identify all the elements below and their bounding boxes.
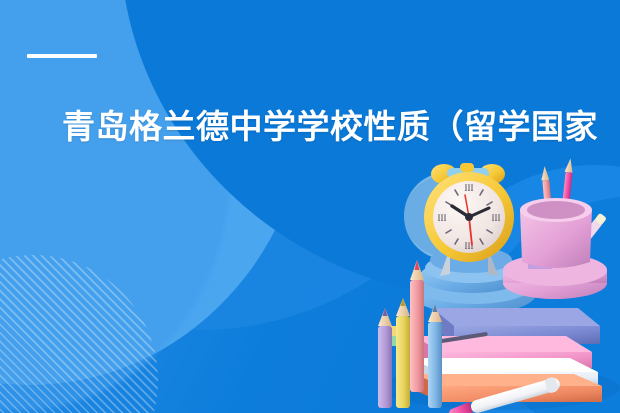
- page-title-text: 青岛格兰德中学学校性质（留学国家: [62, 101, 620, 153]
- cover-banner: 青岛格兰德中学学校性质（留学国家: [0, 0, 620, 413]
- pencil-cup: [503, 158, 607, 299]
- pencil-blue: [428, 304, 442, 408]
- page-title: 青岛格兰德中学学校性质（留学国家: [62, 101, 620, 155]
- pencil-purple: [378, 308, 392, 408]
- svg-text:III: III: [465, 183, 474, 193]
- pencil-pink: [410, 260, 424, 392]
- pencil-yellow: [396, 298, 410, 408]
- title-accent-bar: [27, 54, 97, 58]
- svg-text:III: III: [492, 213, 501, 223]
- stationery-3d-illustration: III III III III: [352, 150, 620, 413]
- svg-text:III: III: [438, 213, 447, 223]
